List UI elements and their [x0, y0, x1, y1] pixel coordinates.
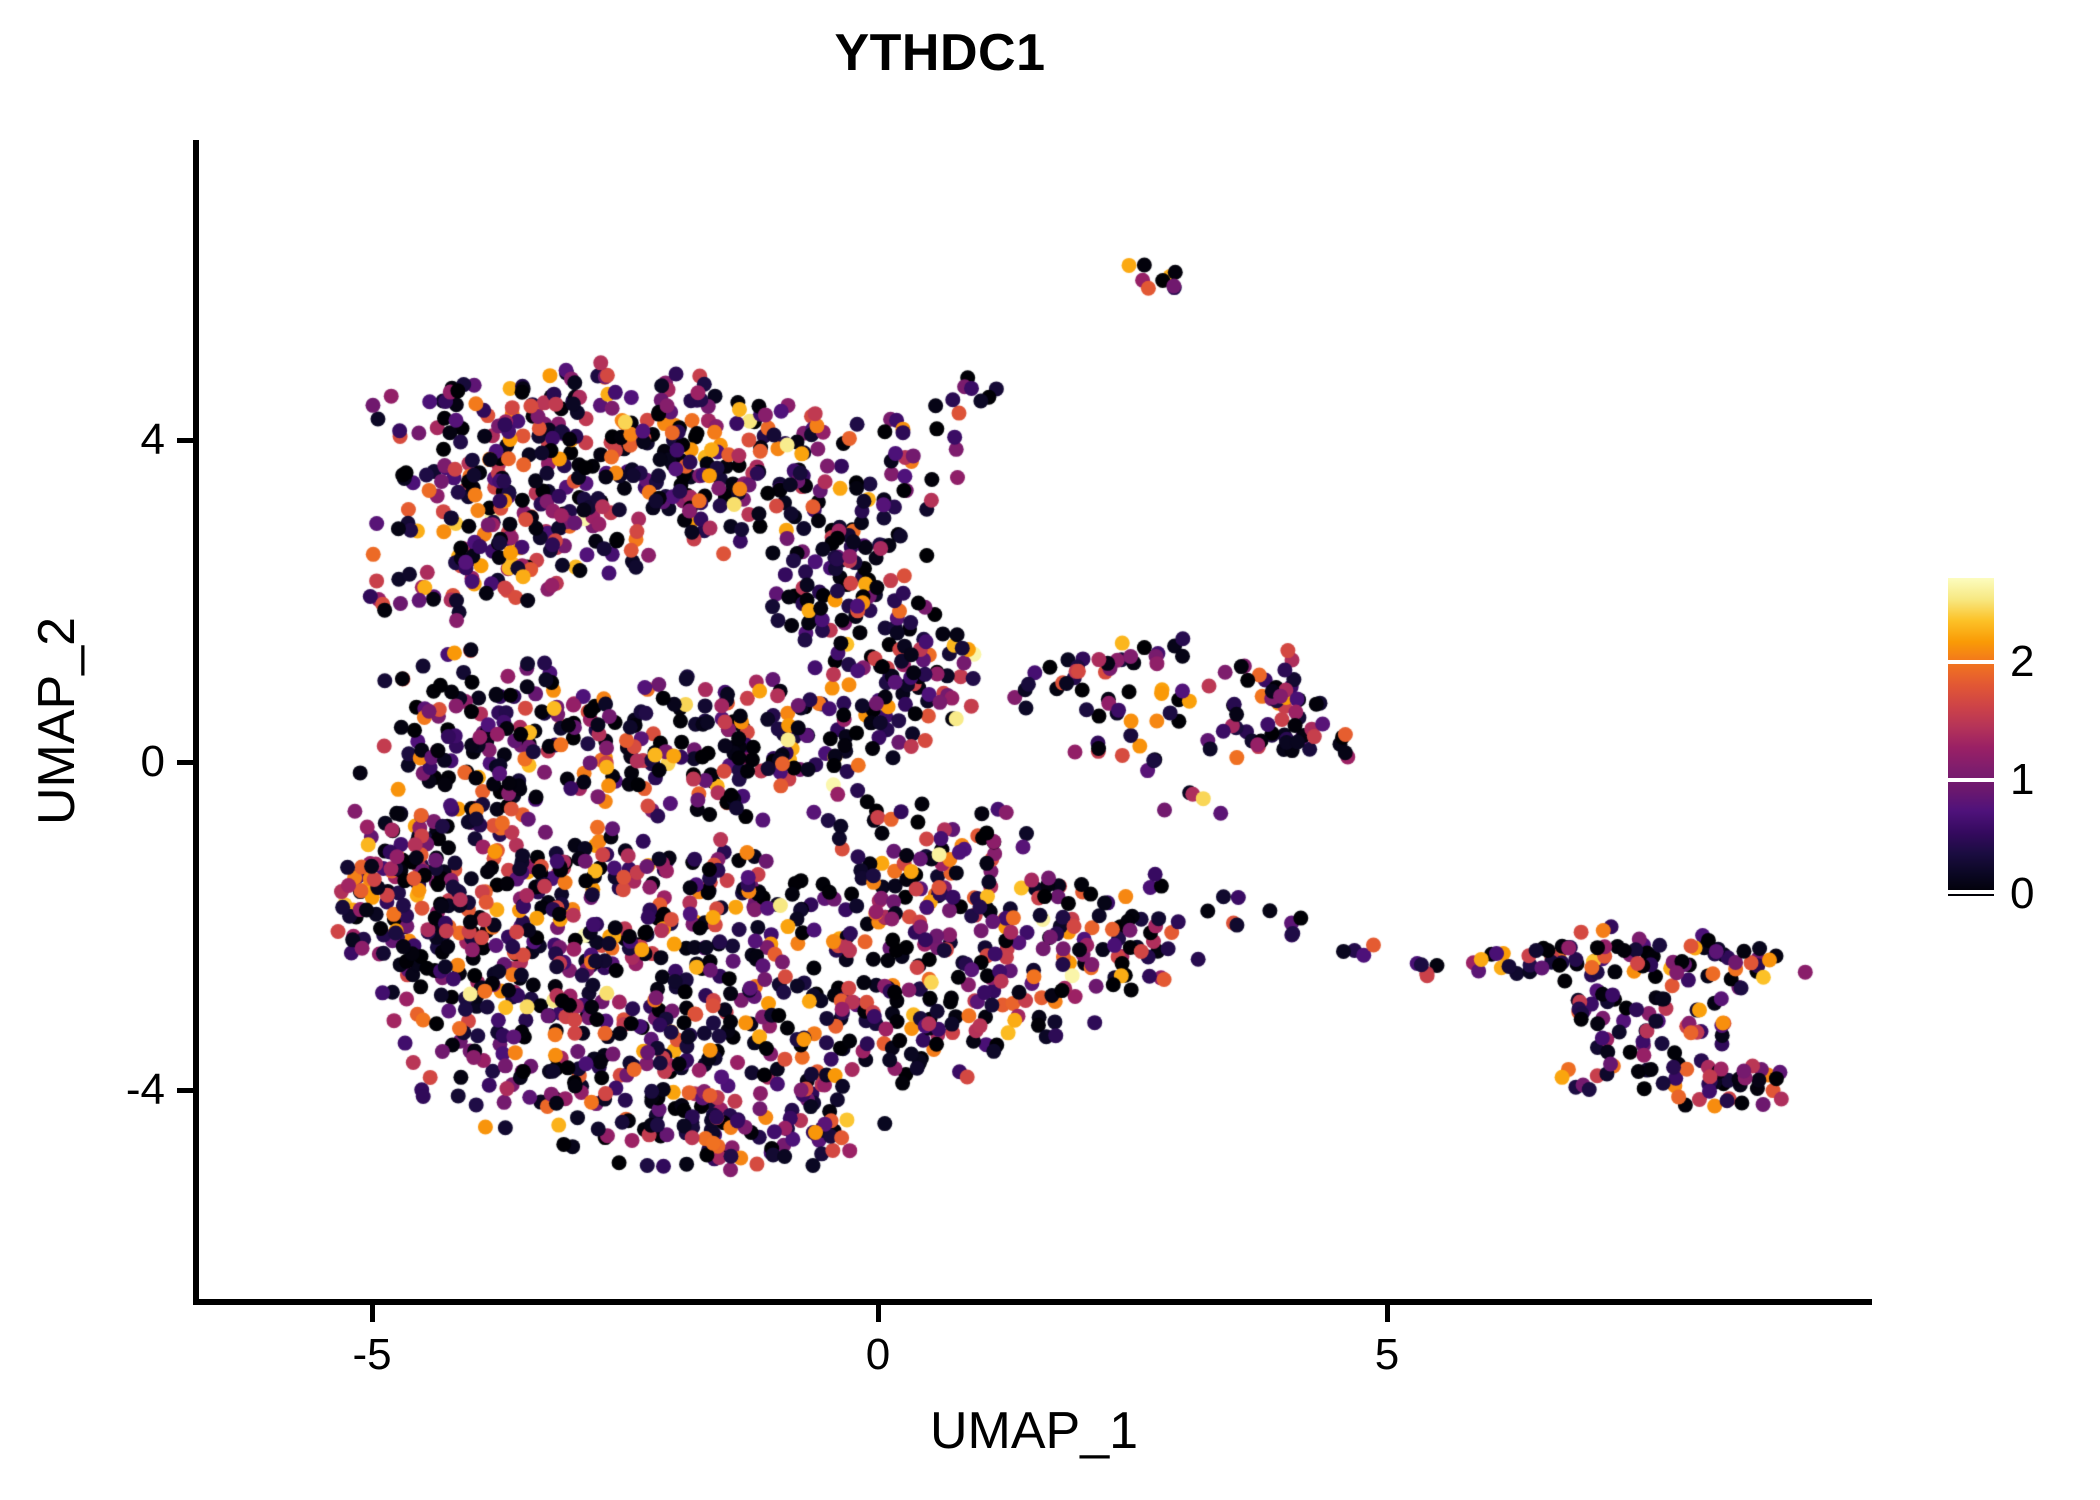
page-title: YTHDC1: [0, 22, 1880, 84]
colorbar-label-2: 2: [2010, 640, 2034, 684]
colorbar-tick-2: [1948, 660, 1994, 664]
colorbar-tick-0: [1948, 890, 1994, 894]
colorbar-label-0: 0: [2010, 872, 2034, 916]
x-tick-mark-5: [1385, 1305, 1390, 1322]
x-tick-label-neg5: -5: [292, 1330, 452, 1380]
x-axis-line: [196, 1299, 1872, 1305]
y-tick-mark-neg4: [177, 1088, 194, 1093]
y-axis-title: UMAP_2: [26, 421, 88, 1021]
colorbar-gradient: [1948, 578, 1994, 896]
x-tick-mark-neg5: [370, 1305, 375, 1322]
y-axis-line: [193, 140, 199, 1305]
plot-panel: [196, 140, 1872, 1302]
colorbar-legend: 2 1 0: [1948, 578, 2098, 898]
colorbar-tick-1: [1948, 778, 1994, 782]
y-tick-mark-4: [177, 438, 194, 443]
umap-feature-plot-figure: YTHDC1 4 0 -4 -5 0 5 UMAP_1 UMAP_2 2 1 0: [0, 0, 2100, 1500]
x-tick-label-0: 0: [798, 1330, 958, 1380]
colorbar-label-1: 1: [2010, 758, 2034, 802]
scatter-points-canvas: [196, 140, 1872, 1302]
x-tick-mark-0: [876, 1305, 881, 1322]
y-tick-mark-0: [177, 760, 194, 765]
x-tick-label-5: 5: [1307, 1330, 1467, 1380]
y-tick-label-neg4: -4: [45, 1068, 165, 1112]
x-axis-title: UMAP_1: [196, 1400, 1872, 1462]
